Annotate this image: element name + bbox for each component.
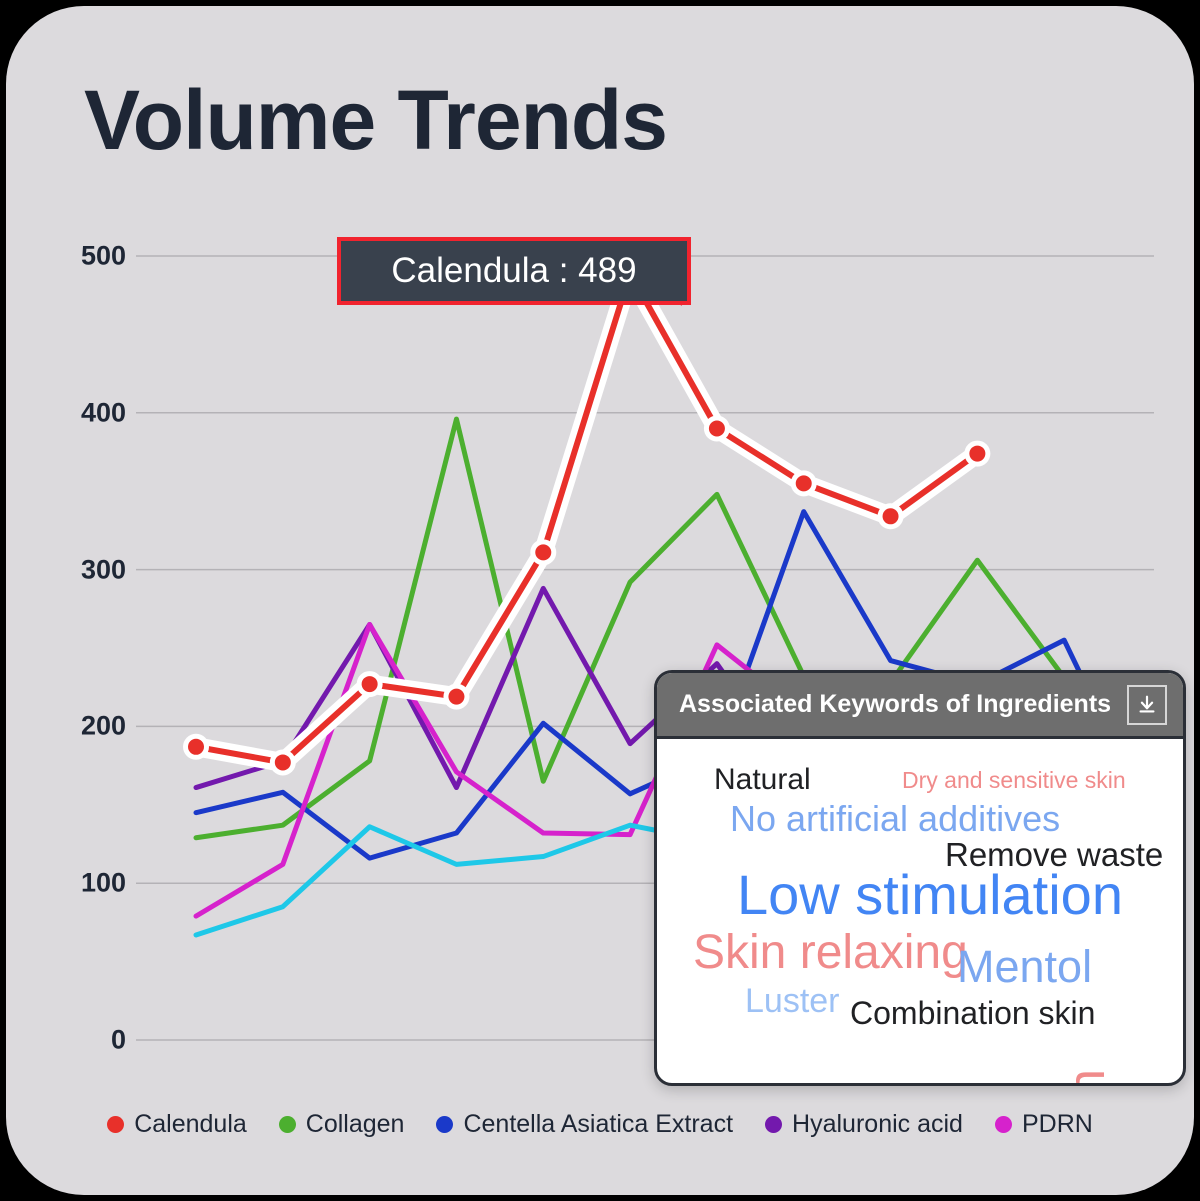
word-cloud-term[interactable]: Combination skin [850, 997, 1095, 1029]
data-point-marker[interactable] [535, 544, 551, 560]
legend-color-dot [436, 1116, 453, 1133]
word-cloud-term[interactable]: Skin relaxing [693, 929, 968, 977]
download-icon [1136, 694, 1158, 716]
data-point-marker[interactable] [969, 446, 985, 462]
data-point-marker[interactable] [362, 676, 378, 692]
word-cloud-term[interactable]: Dry and sensitive skin [902, 769, 1126, 792]
data-point-marker[interactable] [883, 508, 899, 524]
associated-keywords-panel: Associated Keywords of Ingredients Natur… [654, 670, 1186, 1086]
y-axis-tick-label: 500 [46, 241, 126, 272]
tooltip-label: Calendula : 489 [391, 251, 636, 291]
data-point-marker[interactable] [275, 754, 291, 770]
y-axis-tick-label: 0 [46, 1025, 126, 1056]
word-cloud-term[interactable]: Luster [745, 984, 840, 1018]
legend-item-calendula[interactable]: Calendula [107, 1110, 247, 1139]
data-point-marker[interactable] [796, 475, 812, 491]
chart-tooltip[interactable]: Calendula : 489 [337, 237, 691, 305]
word-cloud: NaturalDry and sensitive skinNo artifici… [657, 739, 1183, 1086]
legend-item-label: Centella Asiatica Extract [463, 1110, 733, 1139]
legend-item-collagen[interactable]: Collagen [279, 1110, 405, 1139]
legend-color-dot [107, 1116, 124, 1133]
legend-item-label: Collagen [306, 1110, 405, 1139]
legend-item-hyaluronic-acid[interactable]: Hyaluronic acid [765, 1110, 963, 1139]
word-cloud-term[interactable]: Mentol [957, 944, 1092, 989]
legend-item-label: Hyaluronic acid [792, 1110, 963, 1139]
legend-item-label: PDRN [1022, 1110, 1093, 1139]
legend-item-pdrn[interactable]: PDRN [995, 1110, 1093, 1139]
y-axis-tick-label: 200 [46, 711, 126, 742]
keywords-panel-title: Associated Keywords of Ingredients [679, 690, 1127, 719]
download-button[interactable] [1127, 685, 1167, 725]
word-cloud-term[interactable]: Natural [714, 765, 811, 795]
y-axis-tick-label: 400 [46, 397, 126, 428]
legend-color-dot [995, 1116, 1012, 1133]
keywords-panel-header: Associated Keywords of Ingredients [657, 673, 1183, 739]
legend-item-centella-asiatica-extract[interactable]: Centella Asiatica Extract [436, 1110, 733, 1139]
y-axis-tick-label: 100 [46, 868, 126, 899]
word-cloud-term[interactable]: Soft skin [1061, 1069, 1113, 1086]
legend-item-label: Calendula [134, 1110, 247, 1139]
y-axis-tick-label: 300 [46, 554, 126, 585]
chart-card: Volume Trends 0100200300400500 Calendula… [6, 6, 1194, 1195]
data-point-marker[interactable] [448, 689, 464, 705]
legend-color-dot [765, 1116, 782, 1133]
chart-legend: CalendulaCollagenCentella Asiatica Extra… [6, 1110, 1194, 1139]
legend-color-dot [279, 1116, 296, 1133]
data-point-marker[interactable] [188, 739, 204, 755]
word-cloud-term[interactable]: No artificial additives [730, 801, 1060, 837]
data-point-marker[interactable] [709, 420, 725, 436]
word-cloud-term[interactable]: Low stimulation [737, 867, 1123, 923]
